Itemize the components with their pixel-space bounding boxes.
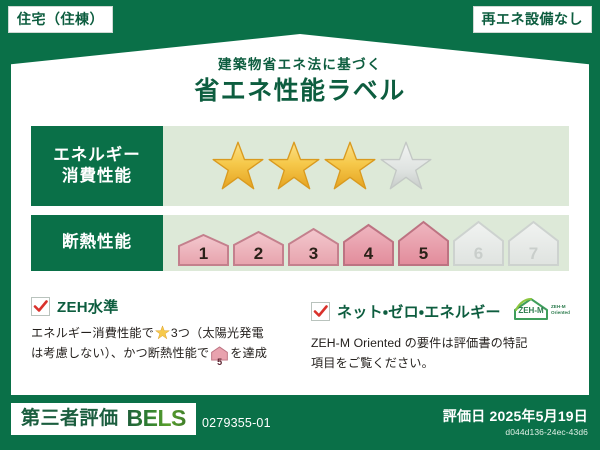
insulation-level-7-number: 7 bbox=[507, 245, 560, 262]
insulation-level-2-number: 2 bbox=[232, 245, 285, 262]
nze-desc-line2: 項目をご覧ください。 bbox=[311, 356, 434, 370]
energy-key-line2: 消費性能 bbox=[62, 166, 132, 187]
title-block: 建築物省エネ法に基づく 省エネ性能ラベル bbox=[11, 58, 589, 104]
building-type-tag: 住宅（住棟） bbox=[8, 6, 113, 33]
insulation-performance-row: 断熱性能 bbox=[31, 215, 569, 271]
criteria-section: ZEH水準 エネルギー消費性能で3つ（太陽光発電 は考慮しない）、かつ断熱性能で… bbox=[31, 296, 571, 374]
criteria-zeh-standard-header: ZEH水準 bbox=[31, 296, 291, 317]
house-icon-inline: 5 bbox=[211, 346, 228, 368]
energy-performance-label-key: エネルギー 消費性能 bbox=[31, 126, 163, 206]
insulation-level-3-number: 3 bbox=[287, 245, 340, 262]
nze-desc-line1: ZEH-M Oriented の要件は評価書の特記 bbox=[311, 336, 527, 350]
insulation-performance-value: 1 2 3 bbox=[163, 215, 569, 271]
criteria-net-zero-energy-description: ZEH-M Oriented の要件は評価書の特記 項目をご覧ください。 bbox=[311, 334, 571, 374]
footer: 第三者評価 BELS 0279355-01 評価日 2025年5月19日 d04… bbox=[0, 395, 600, 450]
evaluation-date: 評価日 2025年5月19日 bbox=[443, 409, 588, 423]
insulation-level-4: 4 bbox=[342, 223, 395, 267]
performance-rows: エネルギー 消費性能 bbox=[31, 126, 569, 280]
insulation-level-1-number: 1 bbox=[177, 245, 230, 262]
renewable-equipment-tag: 再エネ設備なし bbox=[473, 6, 593, 33]
checkbox-zeh-standard[interactable] bbox=[31, 297, 50, 316]
check-icon bbox=[313, 304, 328, 319]
svg-text:ZEH-M: ZEH-M bbox=[551, 304, 566, 309]
zeh-desc-part2: は考慮しない）、かつ断熱性能で bbox=[31, 346, 209, 360]
house-icon-inline-number: 5 bbox=[211, 358, 228, 367]
criteria-net-zero-energy-header: ネット・ゼロ・エネルギー ZEH-M ZEH-M Oriented bbox=[311, 296, 571, 327]
criteria-zeh-standard: ZEH水準 エネルギー消費性能で3つ（太陽光発電 は考慮しない）、かつ断熱性能で… bbox=[31, 296, 291, 374]
insulation-level-5-number: 5 bbox=[397, 245, 450, 262]
checkbox-net-zero-energy[interactable] bbox=[311, 302, 330, 321]
insulation-level-7: 7 bbox=[507, 220, 560, 267]
check-icon bbox=[33, 299, 48, 314]
insulation-level-6-number: 6 bbox=[452, 245, 505, 262]
insulation-level-5: 5 bbox=[397, 220, 450, 267]
bels-logo: 第三者評価 BELS bbox=[11, 403, 196, 435]
insulation-level-3: 3 bbox=[287, 227, 340, 267]
energy-key-line1: エネルギー bbox=[53, 145, 141, 166]
star-icon-filled-1 bbox=[211, 139, 265, 193]
bels-certificate-number: 0279355-01 bbox=[202, 417, 271, 430]
criteria-net-zero-energy-title: ネット・ゼロ・エネルギー bbox=[337, 301, 501, 322]
insulation-level-1: 1 bbox=[177, 233, 230, 267]
zeh-m-logo-icon: ZEH-M ZEH-M Oriented bbox=[512, 296, 570, 322]
zeh-desc-part1: エネルギー消費性能で bbox=[31, 326, 154, 340]
star-icon-inline bbox=[155, 325, 170, 340]
star-icon-filled-3 bbox=[323, 139, 377, 193]
insulation-level-scale: 1 2 3 bbox=[163, 220, 560, 267]
svg-text:Oriented: Oriented bbox=[551, 310, 570, 315]
title-subtitle: 建築物省エネ法に基づく bbox=[11, 58, 589, 72]
svg-text:ZEH-M: ZEH-M bbox=[518, 306, 544, 315]
page-title: 省エネ性能ラベル bbox=[11, 79, 589, 104]
insulation-level-4-number: 4 bbox=[342, 245, 395, 262]
criteria-net-zero-energy: ネット・ゼロ・エネルギー ZEH-M ZEH-M Oriented ZEH-M … bbox=[311, 296, 571, 374]
energy-performance-row: エネルギー 消費性能 bbox=[31, 126, 569, 206]
insulation-level-2: 2 bbox=[232, 230, 285, 267]
zeh-desc-star-count: 3つ（太陽光発電 bbox=[171, 326, 264, 340]
star-icon-empty-4 bbox=[379, 139, 433, 193]
evaluation-id: d044d136-24ec-43d6 bbox=[505, 428, 588, 437]
label-card: 建築物省エネ法に基づく 省エネ性能ラベル エネルギー 消費性能 bbox=[11, 100, 589, 395]
criteria-zeh-standard-description: エネルギー消費性能で3つ（太陽光発電 は考慮しない）、かつ断熱性能で5を達成 bbox=[31, 324, 291, 368]
insulation-performance-label-key: 断熱性能 bbox=[31, 215, 163, 271]
insulation-key-line1: 断熱性能 bbox=[62, 232, 132, 253]
zeh-m-oriented-logo: ZEH-M ZEH-M Oriented bbox=[512, 296, 570, 327]
criteria-zeh-standard-title: ZEH水準 bbox=[57, 296, 119, 317]
bels-third-party-label: 第三者評価 bbox=[21, 409, 119, 428]
energy-performance-label: 住宅（住棟） 再エネ設備なし 建築物省エネ法に基づく 省エネ性能ラベル エネルギ… bbox=[0, 0, 600, 450]
bels-wordmark: BELS bbox=[127, 407, 186, 430]
insulation-level-6: 6 bbox=[452, 220, 505, 267]
energy-performance-value bbox=[163, 126, 569, 206]
star-rating bbox=[163, 139, 433, 193]
star-icon-filled-2 bbox=[267, 139, 321, 193]
zeh-desc-part3: を達成 bbox=[230, 346, 267, 360]
